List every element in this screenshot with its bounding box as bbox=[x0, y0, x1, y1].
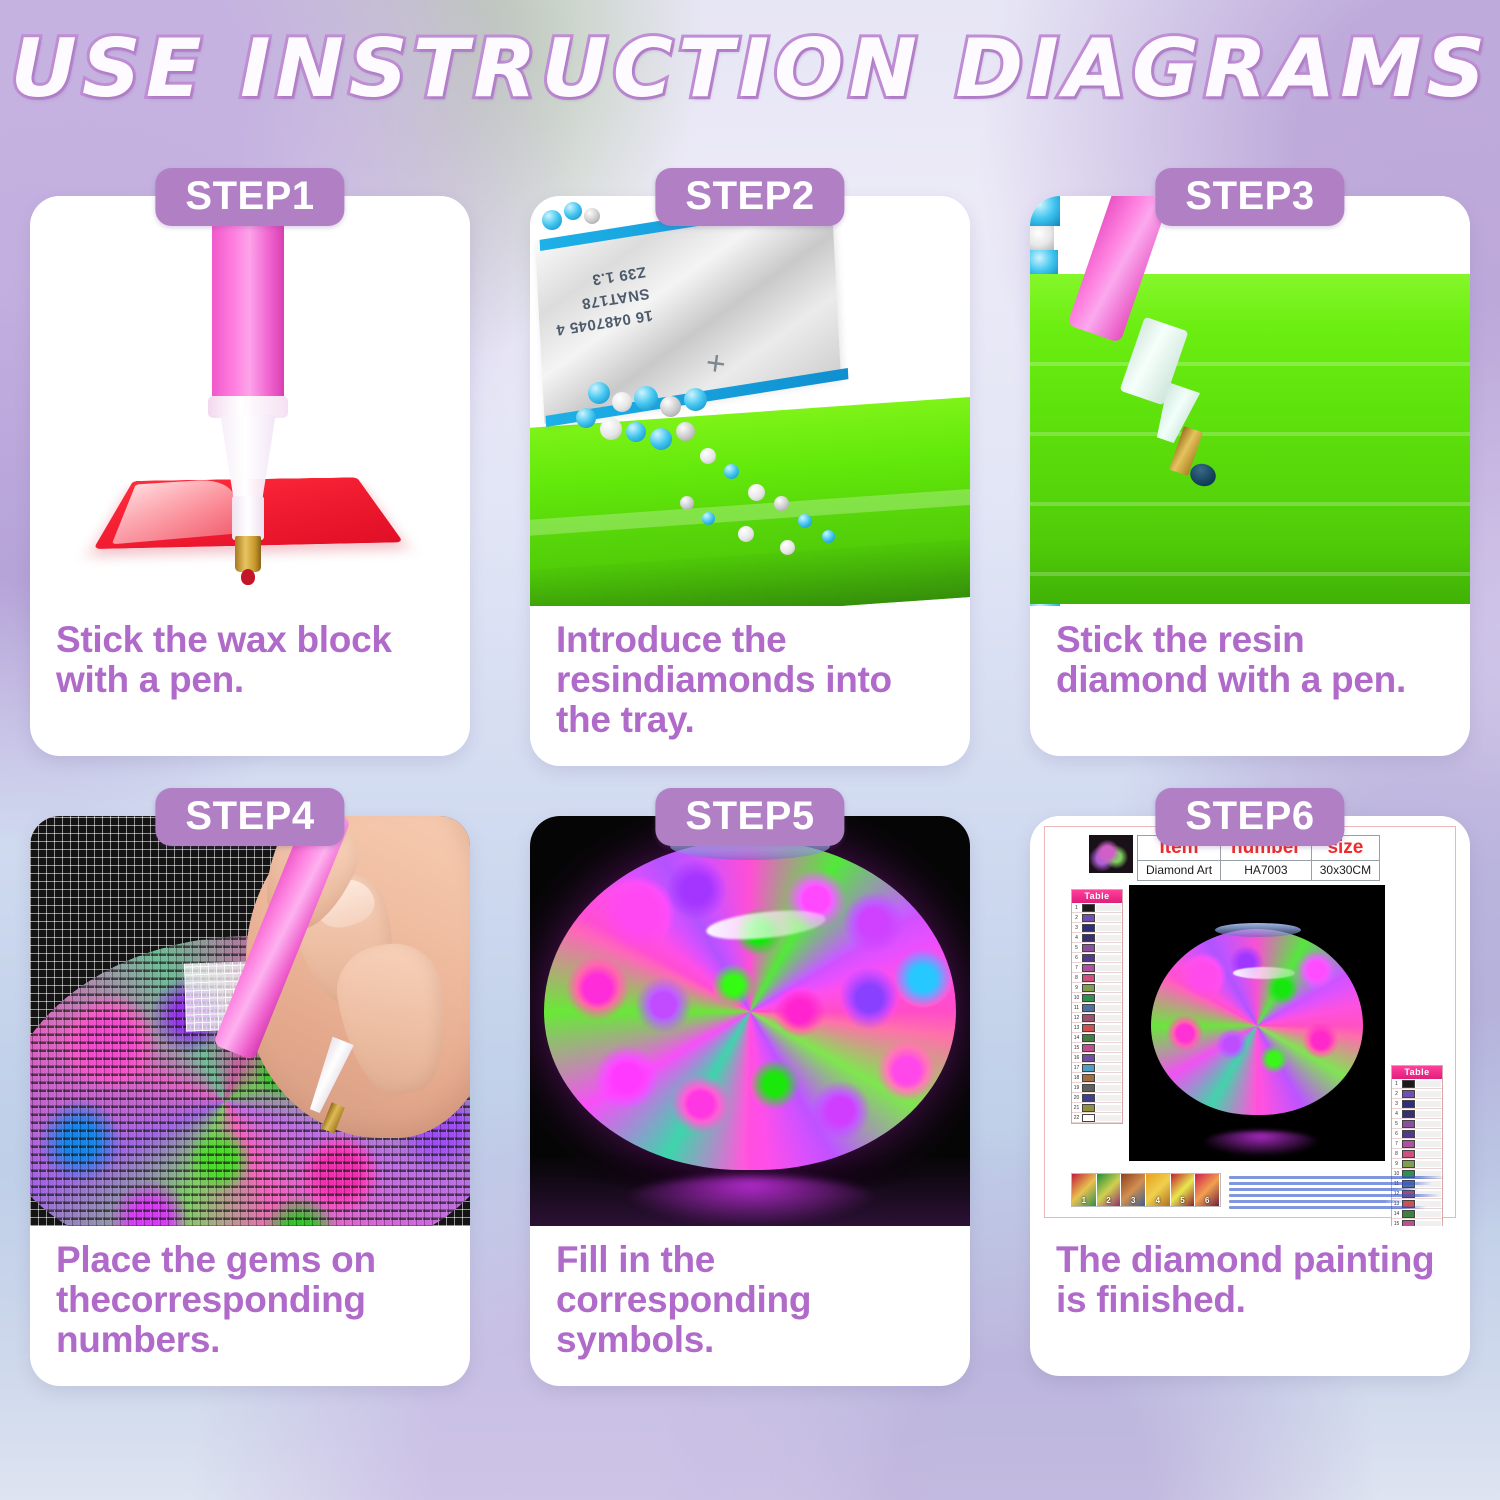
instruction-thumbnail-strip: 123456 bbox=[1071, 1173, 1221, 1207]
resin-diamond-icon bbox=[1030, 226, 1054, 250]
legend-row: 3 bbox=[1072, 923, 1122, 933]
legend-color-swatch bbox=[1082, 1044, 1095, 1052]
resin-diamond-icon bbox=[650, 428, 672, 450]
legend-color-code bbox=[1416, 1111, 1441, 1117]
legend-row-number: 3 bbox=[1392, 1101, 1401, 1107]
legend-color-swatch bbox=[1082, 1014, 1095, 1022]
tray-ridge-icon bbox=[1030, 432, 1470, 436]
resin-diamond-icon bbox=[612, 392, 632, 412]
resin-diamond-icon bbox=[660, 396, 681, 417]
poster-vase-rim-icon bbox=[1215, 923, 1301, 937]
legend-row: 13 bbox=[1072, 1023, 1122, 1033]
legend-row-number: 2 bbox=[1072, 915, 1081, 921]
legend-color-swatch bbox=[1082, 1024, 1095, 1032]
resin-diamond-icon bbox=[1030, 196, 1060, 226]
step-card-6[interactable]: STEP6 Item Diamond Art number HA7003 bbox=[1030, 788, 1470, 808]
resin-diamond-icon bbox=[822, 530, 835, 543]
legend-color-code bbox=[1096, 935, 1121, 941]
legend-row-number: 5 bbox=[1392, 1121, 1401, 1127]
legend-row-number: 15 bbox=[1072, 1045, 1081, 1051]
legend-color-swatch bbox=[1082, 1064, 1095, 1072]
legend-row: 8 bbox=[1392, 1149, 1442, 1159]
legend-row-number: 13 bbox=[1072, 1025, 1081, 1031]
legend-color-swatch bbox=[1402, 1080, 1415, 1088]
steps-grid: STEP1 Stick the wax block with a pen. ST… bbox=[0, 168, 1500, 1428]
legend-row-number: 1 bbox=[1072, 905, 1081, 911]
legend-color-swatch bbox=[1402, 1220, 1415, 1227]
legend-row-number: 7 bbox=[1392, 1141, 1401, 1147]
thumbnail-cell: 3 bbox=[1121, 1174, 1146, 1206]
resin-diamond-icon bbox=[564, 202, 582, 220]
step-card-3[interactable]: STEP3 bbox=[1030, 168, 1470, 788]
legend-row: 1 bbox=[1392, 1079, 1442, 1089]
poster-artwork-image bbox=[1129, 885, 1385, 1161]
legend-row: 14 bbox=[1392, 1209, 1442, 1219]
legend-color-swatch bbox=[1082, 1074, 1095, 1082]
resin-diamond-icon bbox=[588, 382, 610, 404]
legend-color-swatch bbox=[1402, 1160, 1415, 1168]
legend-row-number: 20 bbox=[1072, 1095, 1081, 1101]
page-header: USE INSTRUCTION DIAGRAMS bbox=[0, 22, 1500, 132]
resin-diamond-icon bbox=[748, 484, 765, 501]
thumbnail-cell: 5 bbox=[1171, 1174, 1196, 1206]
legend-title: Table bbox=[1072, 890, 1122, 903]
legend-color-code bbox=[1096, 945, 1121, 951]
tray-ridge-icon bbox=[1030, 572, 1470, 576]
resin-diamond-icon bbox=[702, 512, 715, 525]
legend-color-code bbox=[1096, 1075, 1121, 1081]
legend-row: 4 bbox=[1072, 933, 1122, 943]
legend-color-code bbox=[1096, 955, 1121, 961]
resin-diamond-icon bbox=[680, 496, 694, 510]
instruction-note-lines bbox=[1229, 1176, 1445, 1209]
step-card-body-4: Place the gems on thecorresponding numbe… bbox=[30, 816, 470, 1386]
legend-color-swatch bbox=[1082, 1034, 1095, 1042]
legend-row: 2 bbox=[1072, 913, 1122, 923]
poster-vase-reflection-icon bbox=[1203, 1131, 1319, 1155]
legend-row-number: 6 bbox=[1072, 955, 1081, 961]
legend-row-number: 3 bbox=[1072, 925, 1081, 931]
thumbnail-number: 4 bbox=[1156, 1196, 1160, 1205]
tray-ridge-icon bbox=[1030, 502, 1470, 506]
legend-color-code bbox=[1416, 1221, 1441, 1227]
legend-row: 8 bbox=[1072, 973, 1122, 983]
step-card-body-2: 16 0487045 4 SNAT178 Z39 1.3 + bbox=[530, 196, 970, 766]
thumbnail-cell: 4 bbox=[1146, 1174, 1171, 1206]
legend-row-number: 12 bbox=[1072, 1015, 1081, 1021]
legend-color-swatch bbox=[1082, 1054, 1095, 1062]
instruction-note-line bbox=[1229, 1200, 1406, 1203]
legend-color-swatch bbox=[1082, 934, 1095, 942]
legend-row: 7 bbox=[1392, 1139, 1442, 1149]
resin-diamond-icon bbox=[798, 514, 812, 528]
infographic-page: USE INSTRUCTION DIAGRAMS STEP1 Stick the… bbox=[0, 0, 1500, 1500]
page-title: USE INSTRUCTION DIAGRAMS bbox=[10, 22, 1490, 115]
legend-row-number: 7 bbox=[1072, 965, 1081, 971]
thumbnail-cell: 1 bbox=[1072, 1174, 1097, 1206]
step-card-body-3: Stick the resin diamond with a pen. bbox=[1030, 196, 1470, 756]
legend-color-code bbox=[1096, 1115, 1121, 1121]
legend-color-code bbox=[1096, 905, 1121, 911]
step-card-4[interactable]: STEP4 Place the gems on thecorres bbox=[30, 788, 470, 808]
legend-color-code bbox=[1096, 965, 1121, 971]
instruction-note-line bbox=[1229, 1206, 1426, 1209]
resin-diamond-icon bbox=[738, 526, 754, 542]
legend-color-swatch bbox=[1082, 1004, 1095, 1012]
step-caption-6: The diamond painting is finished. bbox=[1030, 1226, 1470, 1376]
pink-pen-body-icon bbox=[212, 216, 284, 406]
legend-row: 18 bbox=[1072, 1073, 1122, 1083]
legend-row: 6 bbox=[1392, 1129, 1442, 1139]
finished-vase-artwork-icon bbox=[544, 840, 956, 1170]
legend-color-swatch bbox=[1402, 1120, 1415, 1128]
step-card-1[interactable]: STEP1 Stick the wax block with a pen. bbox=[30, 168, 470, 788]
vase-reflection-icon bbox=[626, 1176, 876, 1224]
legend-color-code bbox=[1416, 1101, 1441, 1107]
spec-value-item: Diamond Art bbox=[1138, 861, 1220, 880]
legend-color-swatch bbox=[1402, 1210, 1415, 1218]
resin-diamond-icon bbox=[584, 208, 600, 224]
legend-row: 17 bbox=[1072, 1063, 1122, 1073]
step-card-2[interactable]: STEP2 16 0487045 4 SNAT178 Z39 1.3 + bbox=[530, 168, 970, 788]
legend-color-code bbox=[1096, 1085, 1121, 1091]
pen-gold-tip-icon bbox=[235, 536, 261, 572]
step-caption-4: Place the gems on thecorresponding numbe… bbox=[30, 1226, 470, 1386]
step-photo-3 bbox=[1030, 196, 1470, 606]
resin-diamond-icon bbox=[700, 448, 716, 464]
resin-diamond-icon bbox=[634, 386, 658, 410]
step-photo-4 bbox=[30, 816, 470, 1226]
legend-color-swatch bbox=[1082, 994, 1095, 1002]
step-badge-6: STEP6 bbox=[1155, 788, 1344, 846]
wax-dot-icon bbox=[241, 569, 255, 585]
legend-row: 5 bbox=[1072, 943, 1122, 953]
legend-color-code bbox=[1096, 1065, 1121, 1071]
legend-color-code bbox=[1096, 1005, 1121, 1011]
legend-row-number: 15 bbox=[1392, 1221, 1401, 1227]
legend-row-number: 6 bbox=[1392, 1131, 1401, 1137]
step-caption-1: Stick the wax block with a pen. bbox=[30, 606, 470, 756]
legend-color-swatch bbox=[1402, 1150, 1415, 1158]
legend-row-number: 22 bbox=[1072, 1115, 1081, 1121]
legend-color-code bbox=[1416, 1131, 1441, 1137]
step-card-body-1: Stick the wax block with a pen. bbox=[30, 196, 470, 756]
resin-diamond-icon bbox=[676, 422, 695, 441]
resin-diamond-icon bbox=[684, 388, 707, 411]
step-badge-1: STEP1 bbox=[155, 168, 344, 226]
legend-color-code bbox=[1416, 1121, 1441, 1127]
legend-title: Table bbox=[1392, 1066, 1442, 1079]
legend-row-number: 5 bbox=[1072, 945, 1081, 951]
pen-clear-tip-icon bbox=[232, 496, 264, 540]
legend-color-code bbox=[1096, 1045, 1121, 1051]
legend-row-number: 17 bbox=[1072, 1065, 1081, 1071]
instruction-note-line bbox=[1229, 1176, 1445, 1179]
legend-row: 15 bbox=[1392, 1219, 1442, 1226]
legend-color-swatch bbox=[1082, 974, 1095, 982]
step-photo-6: Item Diamond Art number HA7003 size 30x3… bbox=[1030, 816, 1470, 1226]
legend-color-code bbox=[1416, 1211, 1441, 1217]
legend-row-number: 8 bbox=[1072, 975, 1081, 981]
legend-row: 4 bbox=[1392, 1109, 1442, 1119]
legend-row: 19 bbox=[1072, 1083, 1122, 1093]
step-card-body-5: Fill in the corresponding symbols. bbox=[530, 816, 970, 1386]
legend-row-number: 19 bbox=[1072, 1085, 1081, 1091]
legend-row: 11 bbox=[1072, 1003, 1122, 1013]
step-photo-5 bbox=[530, 816, 970, 1226]
thumbnail-cell: 2 bbox=[1097, 1174, 1122, 1206]
instruction-note-line bbox=[1229, 1194, 1439, 1197]
legend-color-swatch bbox=[1082, 944, 1095, 952]
legend-row: 3 bbox=[1392, 1099, 1442, 1109]
legend-row: 20 bbox=[1072, 1093, 1122, 1103]
legend-row-number: 16 bbox=[1072, 1055, 1081, 1061]
legend-row-number: 9 bbox=[1392, 1161, 1401, 1167]
legend-row-number: 11 bbox=[1072, 1005, 1081, 1011]
thumbnail-number: 5 bbox=[1180, 1196, 1184, 1205]
thumbnail-number: 1 bbox=[1082, 1196, 1086, 1205]
legend-color-swatch bbox=[1402, 1130, 1415, 1138]
spec-value-number: HA7003 bbox=[1221, 861, 1311, 880]
legend-row-number: 21 bbox=[1072, 1105, 1081, 1111]
step-badge-3: STEP3 bbox=[1155, 168, 1344, 226]
legend-color-swatch bbox=[1402, 1100, 1415, 1108]
resin-diamond-icon bbox=[626, 422, 646, 442]
legend-color-swatch bbox=[1082, 954, 1095, 962]
legend-rows-left: 12345678910111213141516171819202122 bbox=[1072, 903, 1122, 1123]
legend-row-number: 14 bbox=[1072, 1035, 1081, 1041]
legend-color-code bbox=[1096, 1025, 1121, 1031]
legend-row: 6 bbox=[1072, 953, 1122, 963]
resin-diamond-icon bbox=[600, 418, 622, 440]
legend-color-swatch bbox=[1402, 1110, 1415, 1118]
poster-thumbnail-icon bbox=[1089, 835, 1133, 873]
poster-vase-highlight-icon bbox=[1233, 967, 1295, 979]
legend-color-swatch bbox=[1082, 1084, 1095, 1092]
poster-vase-icon bbox=[1151, 929, 1363, 1115]
thumbnail-number: 2 bbox=[1106, 1196, 1110, 1205]
step-badge-4: STEP4 bbox=[155, 788, 344, 846]
tray-ridge-icon bbox=[1030, 362, 1470, 366]
legend-row-number: 4 bbox=[1392, 1111, 1401, 1117]
instruction-note-line bbox=[1229, 1182, 1432, 1185]
legend-row: 15 bbox=[1072, 1043, 1122, 1053]
legend-color-swatch bbox=[1082, 1094, 1095, 1102]
legend-row: 12 bbox=[1072, 1013, 1122, 1023]
legend-color-code bbox=[1096, 1015, 1121, 1021]
step-caption-3: Stick the resin diamond with a pen. bbox=[1030, 606, 1470, 756]
legend-color-code bbox=[1416, 1081, 1441, 1087]
legend-color-code bbox=[1416, 1141, 1441, 1147]
legend-row: 14 bbox=[1072, 1033, 1122, 1043]
step-card-5[interactable]: STEP5 Fill in the corresponding symbols. bbox=[530, 788, 970, 808]
legend-row-number: 8 bbox=[1392, 1151, 1401, 1157]
thumbnail-number: 6 bbox=[1205, 1196, 1209, 1205]
legend-color-swatch bbox=[1082, 914, 1095, 922]
legend-row: 1 bbox=[1072, 903, 1122, 913]
legend-color-code bbox=[1416, 1091, 1441, 1097]
step-badge-5: STEP5 bbox=[655, 788, 844, 846]
resin-diamond-icon bbox=[542, 210, 562, 230]
legend-color-code bbox=[1096, 1055, 1121, 1061]
step-card-body-6: Item Diamond Art number HA7003 size 30x3… bbox=[1030, 816, 1470, 1376]
resin-diamond-icon bbox=[774, 496, 789, 511]
legend-row: 2 bbox=[1392, 1089, 1442, 1099]
legend-row-number: 9 bbox=[1072, 985, 1081, 991]
legend-color-code bbox=[1096, 975, 1121, 981]
legend-row: 9 bbox=[1392, 1159, 1442, 1169]
pen-ring-icon bbox=[208, 396, 288, 418]
legend-row: 7 bbox=[1072, 963, 1122, 973]
legend-row-number: 14 bbox=[1392, 1211, 1401, 1217]
legend-row: 22 bbox=[1072, 1113, 1122, 1123]
legend-color-code bbox=[1096, 1095, 1121, 1101]
legend-color-swatch bbox=[1082, 1104, 1095, 1112]
legend-row: 10 bbox=[1072, 993, 1122, 1003]
step-caption-2: Introduce the resindiamonds into the tra… bbox=[530, 606, 970, 766]
spec-value-size: 30x30CM bbox=[1312, 861, 1379, 880]
legend-row: 21 bbox=[1072, 1103, 1122, 1113]
legend-color-code bbox=[1096, 995, 1121, 1001]
legend-color-swatch bbox=[1082, 924, 1095, 932]
color-legend-left: Table 1234567891011121314151617181920212… bbox=[1071, 889, 1123, 1124]
step-photo-2: 16 0487045 4 SNAT178 Z39 1.3 + bbox=[530, 196, 970, 606]
resin-diamond-icon bbox=[724, 464, 739, 479]
instruction-note-line bbox=[1229, 1188, 1419, 1191]
step-photo-1 bbox=[30, 196, 470, 606]
legend-color-code bbox=[1096, 915, 1121, 921]
legend-row-number: 2 bbox=[1392, 1091, 1401, 1097]
diamond-painting-poster: Item Diamond Art number HA7003 size 30x3… bbox=[1044, 826, 1456, 1218]
legend-color-code bbox=[1096, 1035, 1121, 1041]
thumbnail-number: 3 bbox=[1131, 1196, 1135, 1205]
legend-color-swatch bbox=[1402, 1090, 1415, 1098]
resin-diamond-icon bbox=[576, 408, 596, 428]
legend-color-swatch bbox=[1082, 1114, 1095, 1122]
legend-color-swatch bbox=[1402, 1140, 1415, 1148]
resin-diamond-icon bbox=[780, 540, 795, 555]
legend-color-code bbox=[1096, 925, 1121, 931]
legend-row: 5 bbox=[1392, 1119, 1442, 1129]
step-badge-2: STEP2 bbox=[655, 168, 844, 226]
legend-color-swatch bbox=[1082, 964, 1095, 972]
legend-color-code bbox=[1416, 1151, 1441, 1157]
legend-row: 9 bbox=[1072, 983, 1122, 993]
legend-color-code bbox=[1096, 1105, 1121, 1111]
legend-color-swatch bbox=[1082, 984, 1095, 992]
legend-color-code bbox=[1416, 1161, 1441, 1167]
legend-row: 16 bbox=[1072, 1053, 1122, 1063]
legend-row-number: 1 bbox=[1392, 1081, 1401, 1087]
legend-row-number: 4 bbox=[1072, 935, 1081, 941]
step-caption-5: Fill in the corresponding symbols. bbox=[530, 1226, 970, 1386]
legend-color-code bbox=[1096, 985, 1121, 991]
legend-row-number: 18 bbox=[1072, 1075, 1081, 1081]
legend-row-number: 10 bbox=[1072, 995, 1081, 1001]
thumbnail-cell: 6 bbox=[1195, 1174, 1220, 1206]
legend-color-swatch bbox=[1082, 904, 1095, 912]
